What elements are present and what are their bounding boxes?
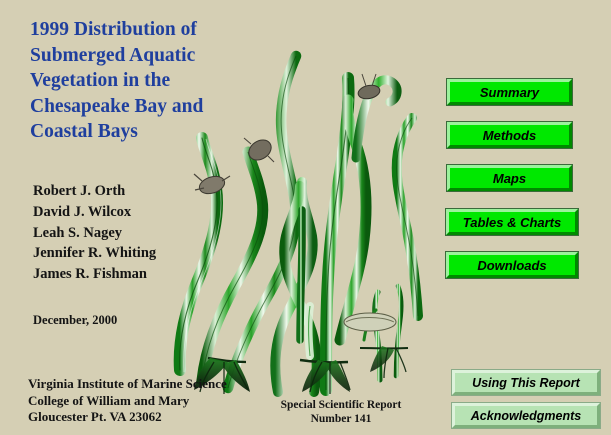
institution-line-3: Gloucester Pt. VA 23062 bbox=[28, 409, 227, 426]
publication-date: December, 2000 bbox=[33, 313, 117, 328]
report-number-block: Special Scientific Report Number 141 bbox=[261, 398, 421, 426]
report-series-line: Special Scientific Report bbox=[261, 398, 421, 412]
title-line-1: 1999 Distribution of bbox=[30, 17, 280, 43]
author-name: Leah S. Nagey bbox=[33, 223, 156, 244]
nav-button-methods[interactable]: Methods bbox=[447, 122, 572, 148]
institution-block: Virginia Institute of Marine Science Col… bbox=[28, 376, 227, 426]
author-list: Robert J. Orth David J. Wilcox Leah S. N… bbox=[33, 181, 156, 285]
nav-button-tables-and-charts[interactable]: Tables & Charts bbox=[446, 209, 578, 235]
title-line-2: Submerged Aquatic bbox=[30, 43, 280, 69]
report-number-line: Number 141 bbox=[261, 412, 421, 426]
author-name: Robert J. Orth bbox=[33, 181, 156, 202]
institution-line-1: Virginia Institute of Marine Science bbox=[28, 376, 227, 393]
nav-button-maps[interactable]: Maps bbox=[447, 165, 572, 191]
title-line-3: Vegetation in the bbox=[30, 68, 280, 94]
author-name: David J. Wilcox bbox=[33, 202, 156, 223]
nav-button-using-this-report[interactable]: Using This Report bbox=[452, 370, 600, 395]
page-title: 1999 Distribution of Submerged Aquatic V… bbox=[30, 17, 280, 145]
author-name: Jennifer R. Whiting bbox=[33, 243, 156, 264]
author-name: James R. Fishman bbox=[33, 264, 156, 285]
title-line-4: Chesapeake Bay and bbox=[30, 94, 280, 120]
nav-button-acknowledgments[interactable]: Acknowledgments bbox=[452, 403, 600, 428]
title-line-5: Coastal Bays bbox=[30, 119, 280, 145]
nav-button-summary[interactable]: Summary bbox=[447, 79, 572, 105]
report-cover-page: 1999 Distribution of Submerged Aquatic V… bbox=[0, 0, 611, 435]
institution-line-2: College of William and Mary bbox=[28, 393, 227, 410]
nav-button-downloads[interactable]: Downloads bbox=[446, 252, 578, 278]
